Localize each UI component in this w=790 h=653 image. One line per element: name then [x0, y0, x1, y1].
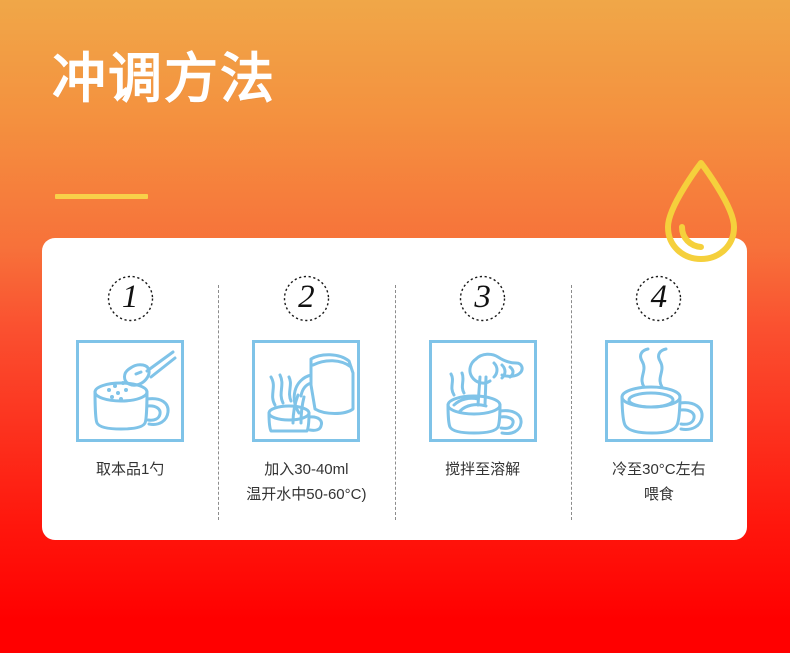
page-title: 冲调方法 [52, 48, 276, 110]
step-caption-line: 取本品1勺 [96, 458, 164, 483]
step-item-1: 1 [42, 238, 218, 540]
step-number-badge-4: 4 [635, 275, 682, 322]
step-caption-4: 冷至30°C左右 喂食 [612, 458, 706, 508]
step-caption-3: 搅拌至溶解 [445, 458, 520, 483]
step-item-3: 3 [395, 238, 571, 540]
steaming-cup-icon [605, 340, 713, 442]
step-caption-line: 加入30-40ml [246, 458, 366, 483]
kettle-pouring-water-into-cup-icon [252, 340, 360, 442]
step-number-2: 2 [298, 281, 315, 314]
step-caption-line: 温开水中50-60°C) [246, 483, 366, 508]
step-caption-line: 喂食 [612, 483, 706, 508]
steps-card: 1 [42, 238, 747, 540]
step-number-1: 1 [122, 281, 139, 314]
spoon-pouring-powder-into-cup-icon [76, 340, 184, 442]
steps-list: 1 [42, 238, 747, 540]
step-caption-line: 冷至30°C左右 [612, 458, 706, 483]
step-item-4: 4 [571, 238, 747, 540]
step-number-badge-2: 2 [283, 275, 330, 322]
step-caption-1: 取本品1勺 [96, 458, 164, 483]
step-caption-2: 加入30-40ml 温开水中50-60°C) [246, 458, 366, 508]
step-number-badge-1: 1 [107, 275, 154, 322]
step-number-badge-3: 3 [459, 275, 506, 322]
step-number-3: 3 [474, 281, 491, 314]
promo-page: 冲调方法 1 [0, 0, 790, 653]
title-underline-accent [55, 194, 148, 199]
step-number-4: 4 [651, 281, 668, 314]
step-caption-line: 搅拌至溶解 [445, 458, 520, 483]
step-item-2: 2 [218, 238, 394, 540]
hand-stirring-cup-with-spoon-icon [429, 340, 537, 442]
